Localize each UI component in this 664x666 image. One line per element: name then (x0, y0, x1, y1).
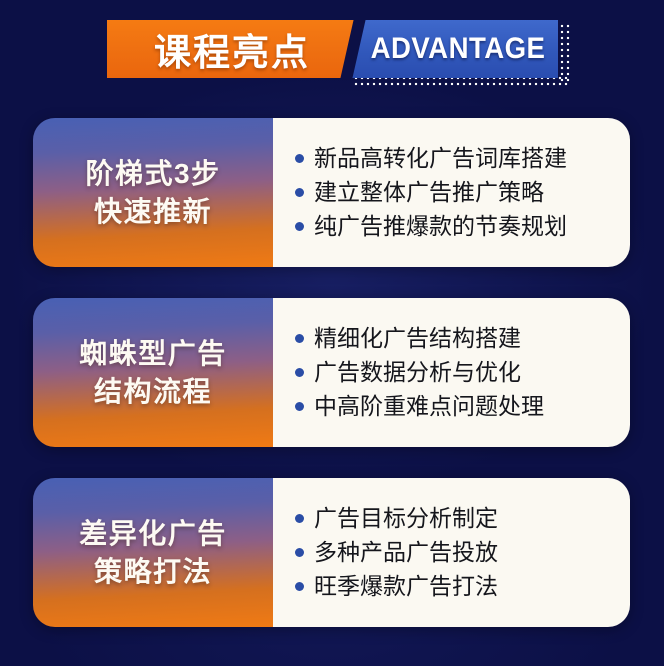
page-title-chinese: 课程亮点 (107, 20, 357, 78)
bullet-label: 旺季爆款广告打法 (314, 573, 498, 600)
bullet-label: 广告数据分析与优化 (314, 359, 521, 386)
card-title-panel: 差异化广告 策略打法 (33, 478, 273, 627)
card-bullet-panel: 新品高转化广告词库搭建 建立整体广告推广策略 纯广告推爆款的节奏规划 (273, 118, 630, 267)
bullet-dot-icon (295, 514, 304, 523)
card-bullet-panel: 精细化广告结构搭建 广告数据分析与优化 中高阶重难点问题处理 (273, 298, 630, 447)
bullet-dot-icon (295, 368, 304, 377)
bullet-dot-icon (295, 222, 304, 231)
list-item: 广告数据分析与优化 (295, 359, 521, 386)
bullet-dot-icon (295, 188, 304, 197)
card-title-line1: 蜘蛛型广告 (79, 338, 227, 369)
bullet-label: 中高阶重难点问题处理 (314, 393, 544, 420)
highlight-card: 蜘蛛型广告 结构流程 精细化广告结构搭建 广告数据分析与优化 中高阶重难点问题处… (33, 298, 630, 447)
card-title-panel: 阶梯式3步 快速推新 (33, 118, 273, 267)
list-item: 新品高转化广告词库搭建 (295, 145, 567, 172)
page-title-english: ADVANTAGE (368, 20, 548, 78)
list-item: 纯广告推爆款的节奏规划 (295, 213, 567, 240)
card-title-line2: 策略打法 (94, 556, 212, 587)
list-item: 广告目标分析制定 (295, 505, 498, 532)
card-bullet-panel: 广告目标分析制定 多种产品广告投放 旺季爆款广告打法 (273, 478, 630, 627)
highlight-card: 阶梯式3步 快速推新 新品高转化广告词库搭建 建立整体广告推广策略 纯广告推爆款… (33, 118, 630, 267)
card-title-panel: 蜘蛛型广告 结构流程 (33, 298, 273, 447)
list-item: 建立整体广告推广策略 (295, 179, 544, 206)
bullet-dot-icon (295, 154, 304, 163)
bullet-label: 新品高转化广告词库搭建 (314, 145, 567, 172)
bullet-label: 多种产品广告投放 (314, 539, 498, 566)
bullet-dot-icon (295, 402, 304, 411)
card-title-line2: 快速推新 (94, 196, 212, 227)
bullet-label: 建立整体广告推广策略 (314, 179, 544, 206)
list-item: 中高阶重难点问题处理 (295, 393, 544, 420)
card-title-line1: 阶梯式3步 (85, 158, 220, 189)
list-item: 旺季爆款广告打法 (295, 573, 498, 600)
bullet-label: 广告目标分析制定 (314, 505, 498, 532)
bullet-dot-icon (295, 582, 304, 591)
list-item: 精细化广告结构搭建 (295, 325, 521, 352)
card-title-line1: 差异化广告 (79, 518, 227, 549)
header-banner: 课程亮点 ADVANTAGE (0, 0, 664, 104)
bullet-dot-icon (295, 548, 304, 557)
bullet-dot-icon (295, 334, 304, 343)
bullet-label: 精细化广告结构搭建 (314, 325, 521, 352)
list-item: 多种产品广告投放 (295, 539, 498, 566)
card-title-line2: 结构流程 (94, 376, 212, 407)
bullet-label: 纯广告推爆款的节奏规划 (314, 213, 567, 240)
highlight-card: 差异化广告 策略打法 广告目标分析制定 多种产品广告投放 旺季爆款广告打法 (33, 478, 630, 627)
